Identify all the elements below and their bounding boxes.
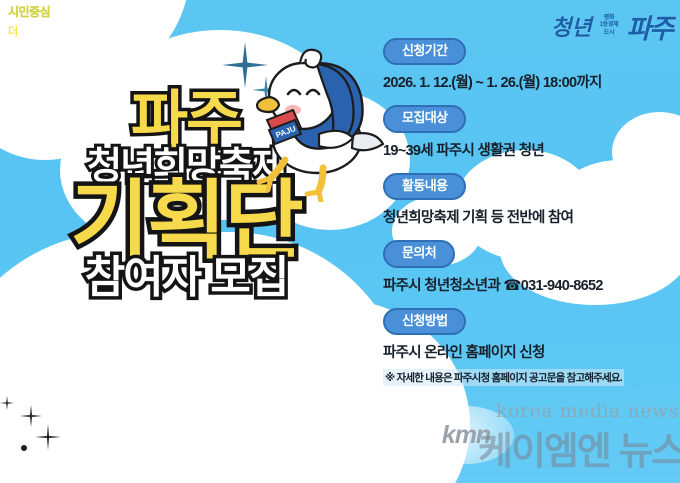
info-block-activities: 활동내용 청년희망축제 기획 등 전반에 참여 (383, 173, 673, 227)
headline-line-4: 참여자 모집 (0, 257, 372, 299)
info-block-application-period: 신청기간 2026. 1. 12.(월) ~ 1. 26.(월) 18:00까지 (383, 38, 673, 92)
info-block-contact: 문의처 파주시 청년청소년과 ☎031-940-8652 (383, 240, 673, 294)
info-value: 19~39세 파주시 생활권 청년 (383, 142, 673, 160)
cloud-shape (0, 392, 440, 483)
watermark-korean: 케이엠엔 뉴스 (478, 420, 680, 475)
info-badge: 신청방법 (383, 308, 466, 335)
brand-logo-prefix: 더 (8, 27, 17, 38)
info-value: 2026. 1. 12.(월) ~ 1. 26.(월) 18:00까지 (383, 74, 673, 92)
brand-logo-main: 큰 파주 (19, 20, 73, 39)
watermark-english: korea media news (496, 400, 679, 422)
info-badge: 문의처 (383, 240, 455, 267)
info-value: 청년희망축제 기획 등 전반에 참여 (383, 209, 673, 227)
brand-logo-name: 더 큰 파주 (8, 20, 73, 39)
poster-canvas: 시민중심 더 큰 파주 청년 평화 1등경제 도시 파주 파주 청년희망축제 기… (0, 0, 680, 483)
brand-logo: 시민중심 더 큰 파주 (8, 6, 73, 39)
city-slogan-line2: 1등경제 (600, 22, 619, 30)
info-badge: 활동내용 (383, 173, 466, 200)
info-block-how-to-apply: 신청방법 파주시 온라인 홈페이지 신청 ※ 자세한 내용은 파주시청 홈페이지… (383, 308, 673, 386)
info-value: 파주시 청년청소년과 ☎031-940-8652 (383, 277, 673, 295)
info-badge: 모집대상 (383, 105, 466, 132)
city-slogan: 평화 1등경제 도시 (600, 15, 619, 38)
footnote: ※ 자세한 내용은 파주시청 홈페이지 공고문을 참고해주세요. (383, 369, 624, 386)
info-block-eligibility: 모집대상 19~39세 파주시 생활권 청년 (383, 105, 673, 159)
info-value: 파주시 온라인 홈페이지 신청 (383, 344, 673, 362)
paju-bird-mascot: PAJU (245, 42, 390, 202)
info-badge: 신청기간 (383, 38, 466, 65)
brand-logo-tagline: 시민중심 (8, 6, 73, 18)
info-panel: 신청기간 2026. 1. 12.(월) ~ 1. 26.(월) 18:00까지… (383, 38, 673, 399)
city-slogan-line3: 도시 (600, 30, 619, 38)
